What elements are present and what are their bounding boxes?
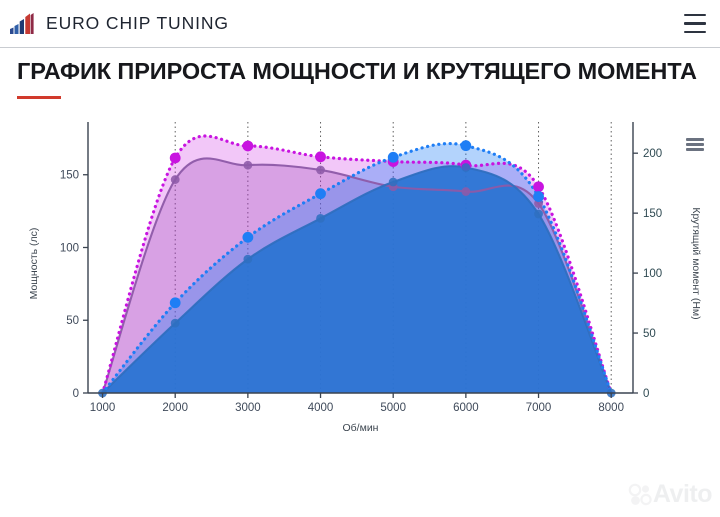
svg-text:50: 50	[643, 328, 656, 340]
svg-text:100: 100	[60, 242, 79, 254]
svg-text:1000: 1000	[90, 402, 116, 414]
hamburger-bar-2	[684, 22, 706, 24]
avito-logo-icon	[627, 482, 653, 508]
svg-text:0: 0	[643, 388, 649, 400]
site-header: EURO CHIP TUNING	[0, 0, 720, 48]
hamburger-bar-1	[684, 14, 706, 16]
svg-text:8000: 8000	[598, 402, 624, 414]
svg-text:200: 200	[643, 148, 662, 160]
svg-text:Об/мин: Об/мин	[343, 422, 379, 434]
avito-watermark: Avito	[627, 480, 712, 509]
svg-text:3000: 3000	[235, 402, 261, 414]
hamburger-menu-icon[interactable]	[684, 14, 706, 33]
avito-watermark-text: Avito	[653, 480, 712, 509]
title-underline-rule	[17, 96, 61, 99]
brand-name: EURO CHIP TUNING	[46, 13, 229, 34]
chart-card: 0501001500501001502001000200030004000500…	[0, 112, 720, 517]
svg-text:150: 150	[643, 208, 662, 220]
svg-text:2000: 2000	[162, 402, 188, 414]
svg-text:50: 50	[66, 315, 79, 327]
svg-text:Мощность (лс): Мощность (лс)	[28, 228, 40, 300]
bar-chart-logo-icon	[9, 12, 37, 36]
page-root: EURO CHIP TUNING ГРАФИК ПРИРОСТА МОЩНОСТ…	[0, 0, 720, 517]
svg-text:Крутящий момент (Нм): Крутящий момент (Нм)	[690, 207, 702, 319]
power-torque-chart[interactable]: 0501001500501001502001000200030004000500…	[0, 112, 720, 452]
brand[interactable]: EURO CHIP TUNING	[9, 12, 229, 36]
svg-text:150: 150	[60, 170, 79, 182]
svg-text:7000: 7000	[526, 402, 552, 414]
page-title: ГРАФИК ПРИРОСТА МОЩНОСТИ И КРУТЯЩЕГО МОМ…	[17, 58, 697, 85]
svg-text:6000: 6000	[453, 402, 479, 414]
svg-text:5000: 5000	[380, 402, 406, 414]
svg-text:0: 0	[73, 388, 79, 400]
svg-text:4000: 4000	[308, 402, 334, 414]
svg-text:100: 100	[643, 268, 662, 280]
hamburger-bar-3	[684, 31, 706, 33]
